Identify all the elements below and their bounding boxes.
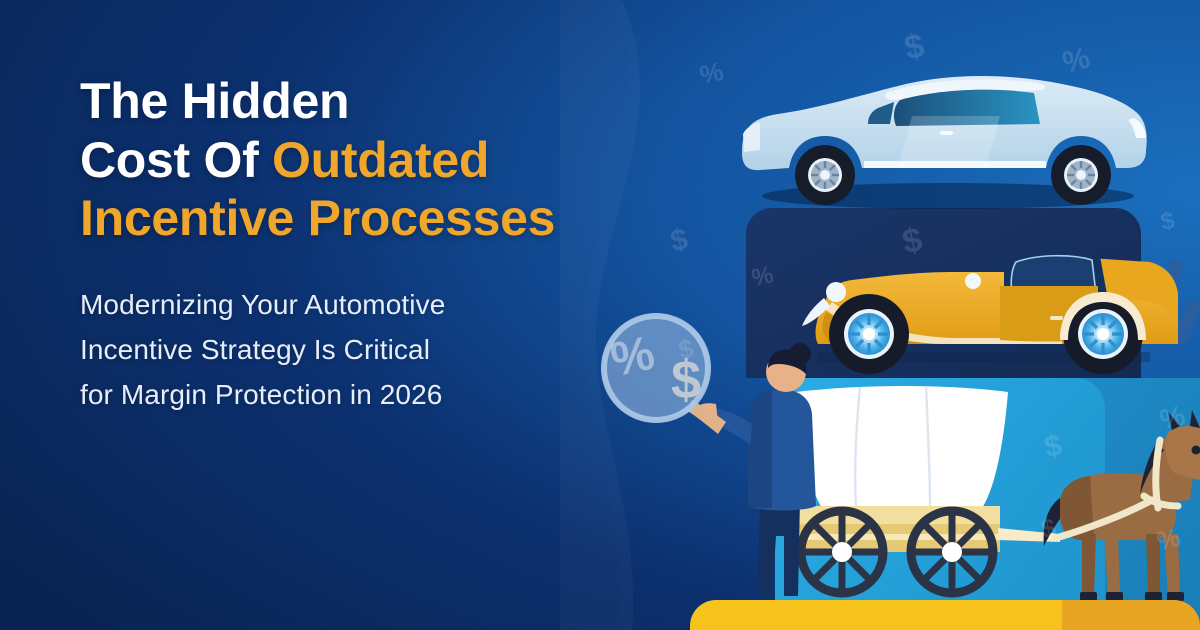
modern-car-door-handle	[940, 131, 953, 135]
page-title: The Hidden Cost Of Outdated Incentive Pr…	[80, 72, 640, 248]
subheadline-line-2: Incentive Strategy Is Critical	[80, 327, 640, 372]
vehicle-evolution-illustration: % $	[580, 0, 1200, 630]
wagon-rear-wheel	[801, 511, 883, 593]
modern-car-rear-wheel	[795, 145, 855, 205]
vintage-car-headlamp	[826, 282, 846, 302]
magnifier-dollar-symbol: $	[671, 350, 701, 410]
yellow-base-shadow	[1062, 600, 1200, 630]
headline-line-3-accent: Incentive Processes	[80, 190, 555, 246]
subheadline-line-1: Modernizing Your Automotive	[80, 282, 640, 327]
wagon-canopy	[796, 386, 1008, 508]
promo-banner: % $ $%%$%$$$%$$% The Hidden Cost Of Outd…	[0, 0, 1200, 630]
vintage-car-door-handle	[1050, 316, 1063, 320]
modern-car-highlight	[898, 116, 1000, 168]
modern-car-taillight	[743, 122, 760, 152]
yellow-base	[690, 600, 1200, 630]
wagon-front-wheel	[911, 511, 993, 593]
vintage-car-mirror	[965, 273, 981, 289]
subheadline-line-3: for Margin Protection in 2026	[80, 372, 640, 417]
headline-block: The Hidden Cost Of Outdated Incentive Pr…	[80, 72, 640, 418]
headline-line-2-accent: Outdated	[272, 132, 489, 188]
headline-line-3: Incentive Processes	[80, 189, 640, 248]
person-hair-bun	[789, 343, 811, 365]
headline-line-1-text: The Hidden	[80, 73, 349, 129]
headline-line-1: The Hidden	[80, 72, 640, 131]
headline-line-2-plain: Cost Of	[80, 132, 272, 188]
inspector-person	[694, 343, 816, 596]
vintage-car-rear-wheel	[829, 294, 909, 374]
subheadline: Modernizing Your Automotive Incentive St…	[80, 282, 640, 418]
modern-car-rocker-stripe	[864, 161, 1046, 168]
headline-line-2: Cost Of Outdated	[80, 131, 640, 190]
person-coat-shade	[748, 390, 772, 508]
modern-car-front-wheel	[1051, 145, 1111, 205]
